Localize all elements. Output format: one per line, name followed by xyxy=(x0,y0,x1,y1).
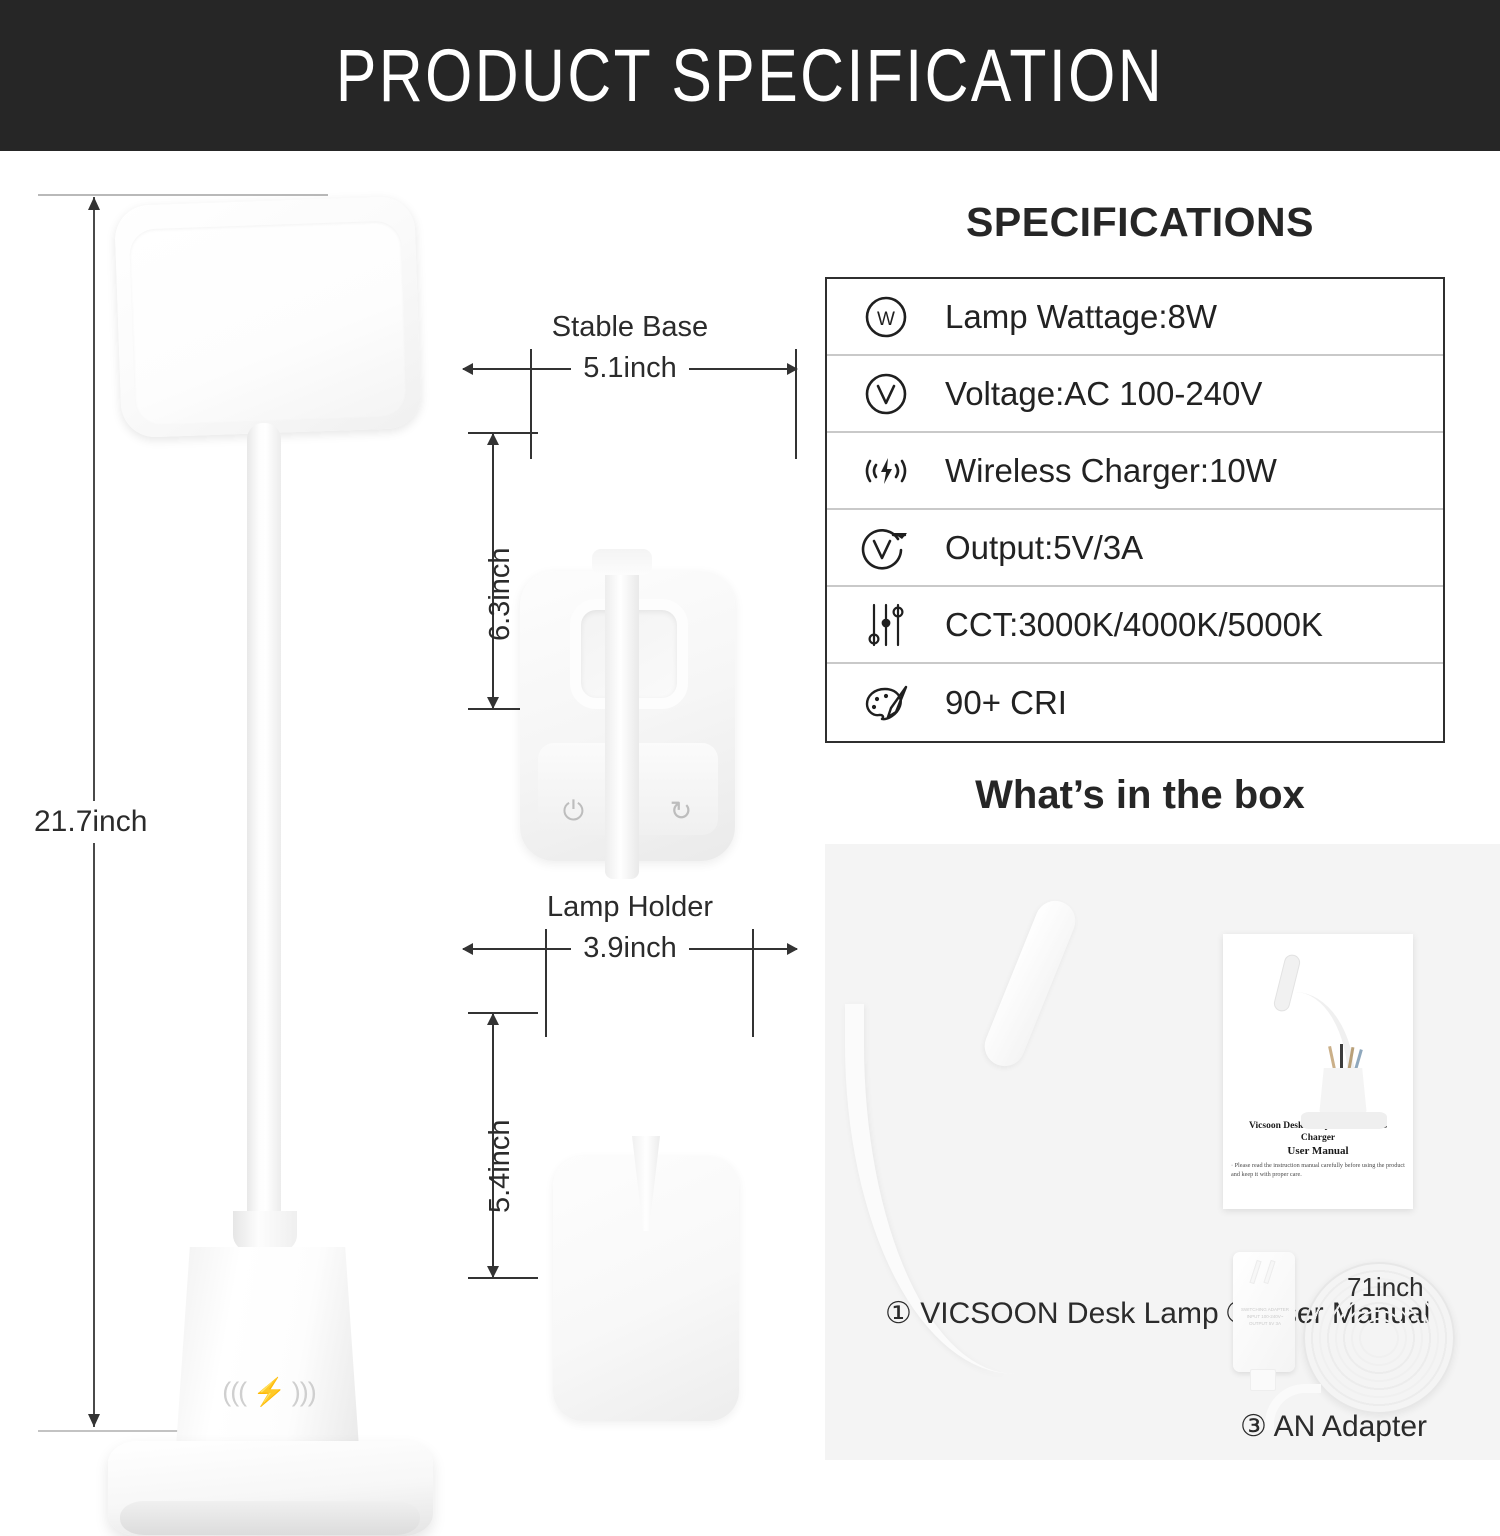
power-icon[interactable]: ⏻ xyxy=(563,796,584,828)
lamp-neck-collar xyxy=(233,1211,297,1251)
base-stem xyxy=(605,549,639,879)
circled-v-arrow-icon xyxy=(827,522,945,574)
lamp-holder-height-label: 5.4inch xyxy=(484,1119,517,1213)
product-illustration-panel: 21.7inch ((( ⚡ ))) Stable Base 5.1inch 6… xyxy=(0,151,820,1460)
spec-label: Lamp Wattage:8W xyxy=(945,298,1217,336)
svg-text:W: W xyxy=(877,309,895,330)
manual-title-line-2: User Manual xyxy=(1231,1145,1405,1157)
specs-and-box-panel: SPECIFICATIONS W Lamp Wattage:8W Voltage… xyxy=(820,151,1500,1460)
base-touch-controls: ⏻ ↻ xyxy=(520,796,735,828)
wireless-bolt-icon xyxy=(827,445,945,497)
lamp-gooseneck xyxy=(247,423,281,1233)
stable-base-width-dimension: 5.1inch xyxy=(455,348,805,388)
lamp-holder-tick-right xyxy=(752,929,754,1037)
box-item-label-1: ① VICSOON Desk Lamp xyxy=(885,1296,1219,1331)
stable-base-title: Stable Base xyxy=(455,311,805,344)
spec-label: Wireless Charger:10W xyxy=(945,452,1277,490)
manual-note: · Please read the instruction manual car… xyxy=(1231,1162,1405,1180)
table-row: W Lamp Wattage:8W xyxy=(827,279,1443,356)
spec-label: CCT:3000K/4000K/5000K xyxy=(945,606,1323,644)
palette-icon xyxy=(827,677,945,729)
adapter-usb-connector xyxy=(1250,1369,1276,1391)
box-item-label-3: ③ AN Adapter xyxy=(1240,1409,1427,1444)
stable-base-tick-left xyxy=(530,349,532,459)
table-row: CCT:3000K/4000K/5000K xyxy=(827,587,1443,664)
table-row: Wireless Charger:10W xyxy=(827,433,1443,510)
stable-base-height-label: 6.3inch xyxy=(484,547,517,641)
pen-holder-cup xyxy=(175,1247,360,1462)
adapter-printed-text: SWITCHING ADAPTERINPUT 100-240V~OUTPUT 5… xyxy=(1239,1306,1291,1328)
lamp-holder-title: Lamp Holder xyxy=(455,891,805,924)
user-manual-cover: Vicsoon Desk Lamp with Wireless Charger … xyxy=(1223,934,1413,1209)
cable-length-label: 71inch xyxy=(1347,1272,1424,1303)
overall-height-label: 21.7inch xyxy=(28,801,153,843)
base-stem-top xyxy=(592,549,652,575)
wireless-charging-icon: ((( ⚡ ))) xyxy=(214,1376,324,1408)
adapter-prongs xyxy=(1249,1260,1281,1286)
lamp-holder-width-label: 3.9inch xyxy=(571,932,689,965)
page-title: PRODUCT SPECIFICATION xyxy=(336,33,1164,118)
lamp-base-lip xyxy=(120,1501,420,1535)
stable-base-tick-right xyxy=(795,349,797,459)
spec-label: Output:5V/3A xyxy=(945,529,1143,567)
whats-in-the-box-heading: What’s in the box xyxy=(820,773,1460,818)
box-lamp-head xyxy=(979,895,1082,1072)
table-row: Voltage:AC 100-240V xyxy=(827,356,1443,433)
circled-w-icon: W xyxy=(827,291,945,343)
table-row: 90+ CRI xyxy=(827,664,1443,741)
manual-pen-cup xyxy=(1319,1068,1367,1116)
circled-v-icon xyxy=(827,368,945,420)
specifications-table: W Lamp Wattage:8W Voltage:AC 100-240V xyxy=(825,277,1445,743)
extension-line-top xyxy=(38,194,328,196)
page-header: PRODUCT SPECIFICATION xyxy=(0,0,1500,151)
spec-label: Voltage:AC 100-240V xyxy=(945,375,1262,413)
lamp-holder-tick-left xyxy=(545,929,547,1037)
manual-lamp-base xyxy=(1301,1112,1387,1129)
lamp-led-panel xyxy=(129,220,408,425)
spec-label: 90+ CRI xyxy=(945,684,1067,722)
sliders-icon xyxy=(827,597,945,653)
lamp-head xyxy=(114,196,422,438)
specifications-heading: SPECIFICATIONS xyxy=(820,199,1460,246)
stable-base-width-label: 5.1inch xyxy=(571,352,689,385)
mode-cycle-icon[interactable]: ↻ xyxy=(670,796,693,828)
whats-in-the-box-panel: ① VICSOON Desk Lamp Vicsoon Desk Lamp wi… xyxy=(825,844,1500,1460)
manual-cover-illustration xyxy=(1231,940,1405,1115)
table-row: Output:5V/3A xyxy=(827,510,1443,587)
